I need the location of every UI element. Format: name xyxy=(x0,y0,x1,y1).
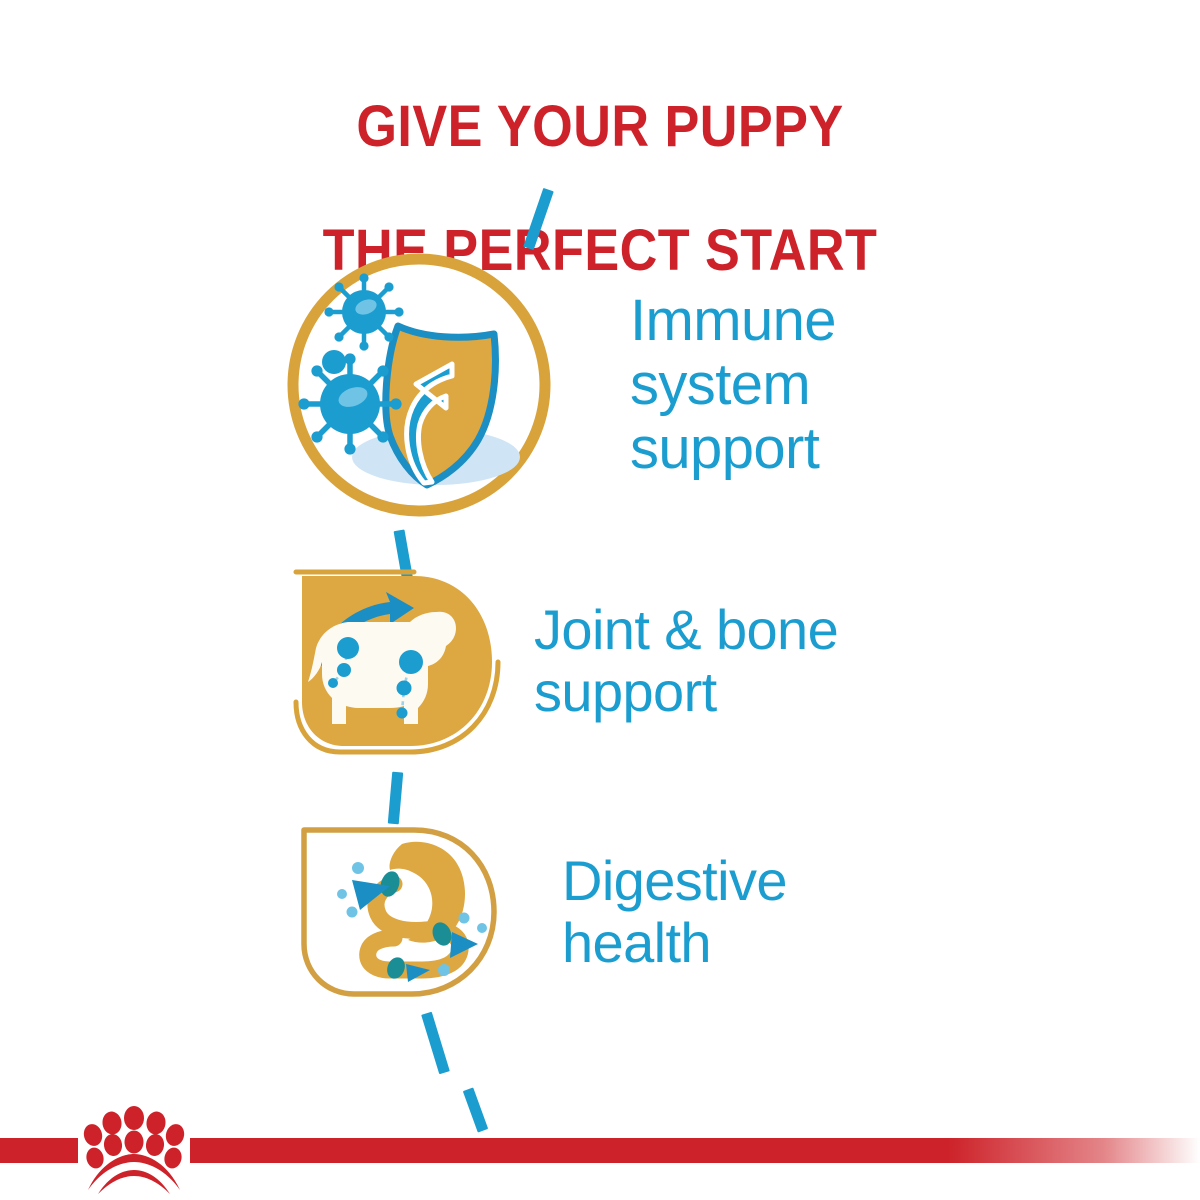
infographic-canvas: GIVE YOUR PUPPY THE PERFECT START xyxy=(0,0,1200,1200)
shield-virus-immunity-icon xyxy=(286,252,552,518)
puppy-joints-shield-icon xyxy=(286,566,502,756)
benefit-label-joint-and-bone-support: Joint & bone support xyxy=(534,599,838,723)
stomach-intestine-shield-icon xyxy=(294,822,504,1002)
dash-segment xyxy=(463,1087,488,1132)
dash-segment xyxy=(388,772,403,825)
dash-segment xyxy=(421,1012,450,1075)
benefit-row-joint-and-bone-support: Joint & bone support xyxy=(286,566,838,756)
royal-canin-crown-icon xyxy=(78,1104,190,1196)
benefit-row-immune-system-support: Immune system support xyxy=(286,252,836,518)
benefit-label-digestive-health: Digestive health xyxy=(562,850,787,974)
benefit-row-digestive-health: Digestive health xyxy=(294,822,787,1002)
benefit-label-immune-system-support: Immune system support xyxy=(630,289,836,481)
page-title-line-1: GIVE YOUR PUPPY xyxy=(60,96,1140,158)
